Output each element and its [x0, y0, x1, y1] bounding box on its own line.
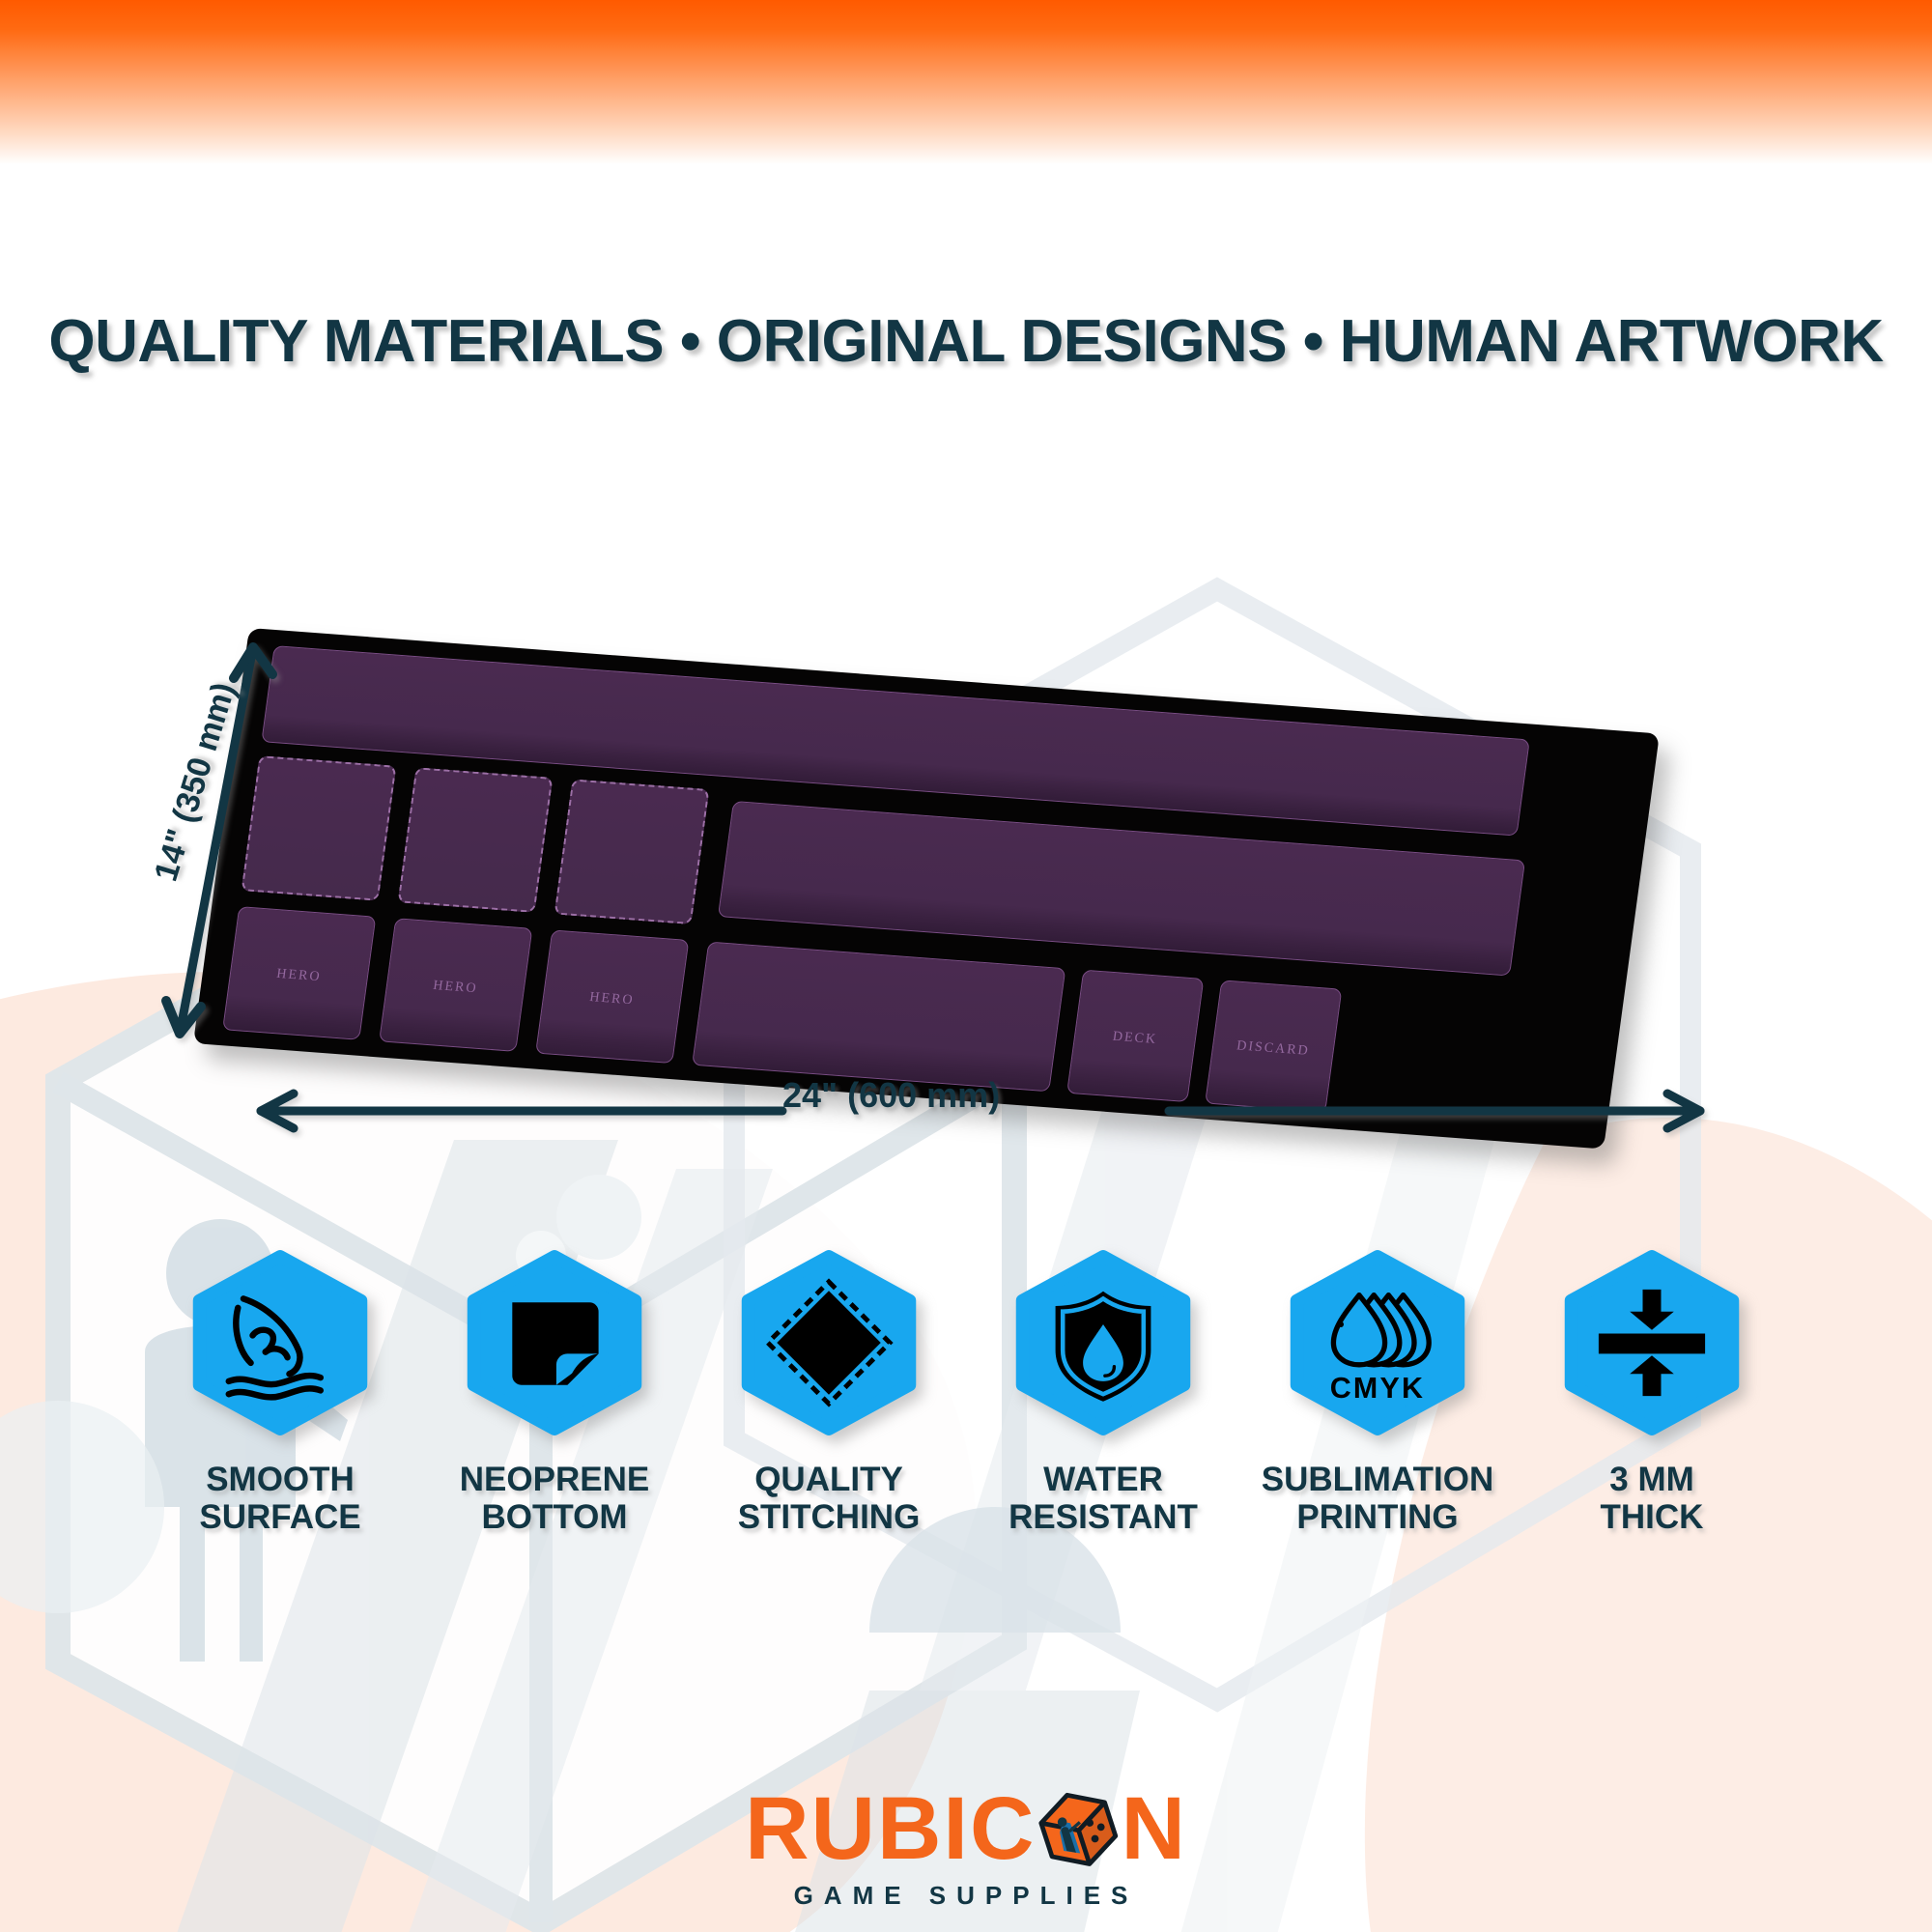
playmat-surface: hero hero hero deck discard	[193, 628, 1660, 1150]
cmyk-droplets-icon: CMYK	[1286, 1246, 1469, 1439]
brand-logo[interactable]: RUBIC N GAME SUPPLIES	[0, 1782, 1932, 1911]
feature-label-line2: SURFACE	[199, 1498, 360, 1536]
feature-item-thickness: 3 MM THICK	[1526, 1246, 1777, 1536]
brand-wordmark-start: RUBIC	[745, 1784, 1036, 1873]
thickness-arrows-icon	[1560, 1246, 1744, 1439]
feature-label-line1: WATER	[1009, 1461, 1198, 1498]
playmat-zone-label: discard	[1236, 1033, 1312, 1061]
feature-item-water-resistant: WATER RESISTANT	[978, 1246, 1229, 1536]
feature-label: WATER RESISTANT	[1009, 1461, 1198, 1536]
peeling-corner-icon	[463, 1246, 646, 1439]
stitched-diamond-icon	[737, 1246, 921, 1439]
feature-item-quality-stitching: QUALITY STITCHING	[703, 1246, 954, 1536]
playmat-zone-label: hero	[588, 983, 636, 1009]
feature-label-line2: STITCHING	[738, 1498, 921, 1536]
playmat-zone-label: deck	[1112, 1023, 1159, 1048]
playmat-zone-label: hero	[432, 972, 479, 997]
cmyk-text: CMYK	[1330, 1372, 1426, 1405]
feature-label: SMOOTH SURFACE	[199, 1461, 360, 1536]
playmat-zone-hero: hero	[379, 918, 532, 1052]
playmat-zone	[692, 942, 1065, 1093]
feature-label: SUBLIMATION PRINTING	[1262, 1461, 1493, 1536]
brand-wordmark: RUBIC N	[745, 1782, 1187, 1875]
feature-label-line1: SUBLIMATION	[1262, 1461, 1493, 1498]
feature-list: SMOOTH SURFACE NEOPRENE BOTTOM	[0, 1246, 1932, 1536]
feature-label-line2: BOTTOM	[460, 1498, 649, 1536]
brand-tagline: GAME SUPPLIES	[0, 1881, 1932, 1911]
playmat-zone	[554, 779, 710, 924]
feature-label-line1: QUALITY	[738, 1461, 921, 1498]
dice-icon	[1032, 1782, 1124, 1875]
feature-label: QUALITY STITCHING	[738, 1461, 921, 1536]
feature-label-line1: 3 MM	[1601, 1461, 1704, 1498]
brand-wordmark-end: N	[1121, 1784, 1186, 1873]
feature-label: 3 MM THICK	[1601, 1461, 1704, 1536]
playmat-illustration: 14" (350 mm) 24" (600 mm)	[0, 0, 1932, 1159]
page-title: QUALITY MATERIALS • ORIGINAL DESIGNS • H…	[0, 307, 1932, 376]
playmat-zone-hero: hero	[535, 929, 689, 1064]
feature-item-smooth-surface: SMOOTH SURFACE	[155, 1246, 406, 1536]
feature-label: NEOPRENE BOTTOM	[460, 1461, 649, 1536]
feature-label-line2: THICK	[1601, 1498, 1704, 1536]
shield-water-drop-icon	[1011, 1246, 1195, 1439]
feature-label-line2: RESISTANT	[1009, 1498, 1198, 1536]
feature-item-sublimation-printing: CMYK SUBLIMATION PRINTING	[1252, 1246, 1503, 1536]
feature-item-neoprene-bottom: NEOPRENE BOTTOM	[429, 1246, 680, 1536]
feature-label-line2: PRINTING	[1262, 1498, 1493, 1536]
hand-on-smooth-surface-icon	[188, 1246, 372, 1439]
feature-label-line1: NEOPRENE	[460, 1461, 649, 1498]
feature-label-line1: SMOOTH	[199, 1461, 360, 1498]
playmat-zone	[398, 767, 554, 913]
width-dimension-label: 24" (600 mm)	[782, 1075, 1000, 1116]
